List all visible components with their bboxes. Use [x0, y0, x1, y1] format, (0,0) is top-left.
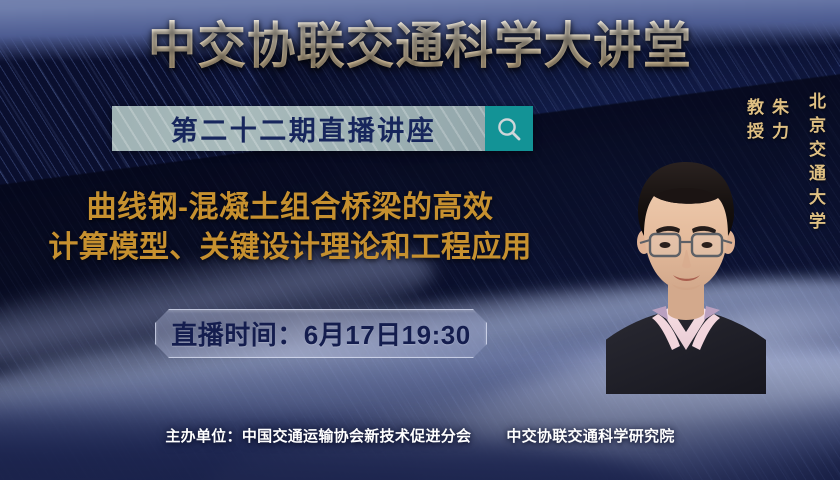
- co-organizer-label: 中交协联交通科学研究院: [506, 428, 674, 445]
- search-button[interactable]: [485, 106, 533, 151]
- search-icon: [495, 115, 523, 143]
- lecture-topic-line-1: 曲线钢-混凝土组合桥梁的高效: [0, 188, 580, 228]
- page-title: 中交协联交通科学大讲堂: [13, 17, 828, 75]
- broadcast-time-badge: 直播时间：6月17日19:30: [155, 309, 487, 358]
- lecture-topic-line-2: 计算模型、关键设计理论和工程应用: [0, 228, 580, 268]
- live-lecture-poster: 中交协联交通科学大讲堂 第二十二期直播讲座 曲线钢-混凝土组合桥梁的高效 计算模…: [0, 0, 840, 480]
- speaker-info: 朱力 教授 北京交通大学: [741, 92, 828, 236]
- organizer-label: 主办单位：中国交通运输协会新技术促进分会: [165, 428, 471, 445]
- episode-label: 第二十二期直播讲座: [157, 109, 441, 148]
- speaker-name: 朱力: [769, 98, 788, 146]
- episode-banner-panel: 第二十二期直播讲座: [112, 106, 485, 151]
- speaker-title: 教授: [744, 98, 763, 146]
- speaker-name-title-column: 朱力 教授: [741, 98, 791, 146]
- lecture-topic: 曲线钢-混凝土组合桥梁的高效 计算模型、关键设计理论和工程应用: [0, 188, 580, 268]
- broadcast-time-label: 直播时间：6月17日19:30: [171, 315, 470, 352]
- episode-banner: 第二十二期直播讲座: [112, 106, 533, 151]
- speaker-affiliation: 北京交通大学: [803, 92, 828, 236]
- organizer-footer: 主办单位：中国交通运输协会新技术促进分会 中交协联交通科学研究院: [0, 425, 840, 446]
